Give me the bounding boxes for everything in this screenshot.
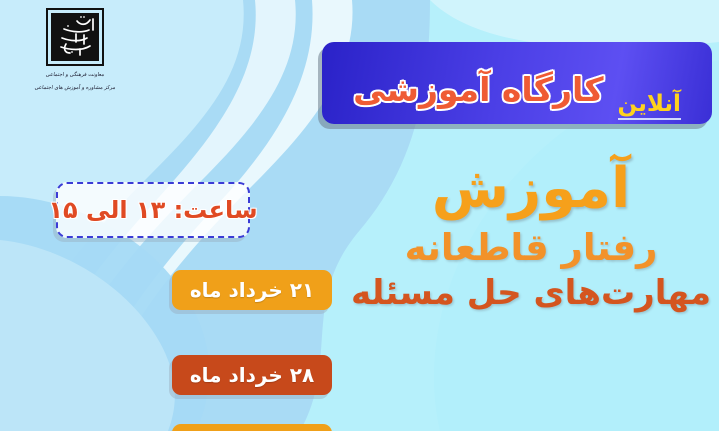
date-badge-label: ۲۱ خرداد ماه (190, 280, 314, 300)
headline-main: آموزش (351, 160, 711, 219)
banner-online-label: آنلاین (618, 93, 681, 120)
workshop-banner: آنلاین کارگاه آموزشی (322, 42, 712, 124)
date-badge: ۲۱ خرداد ماه (172, 270, 332, 310)
date-badge-label: ۲۸ خرداد ماه (190, 365, 314, 385)
headline-topic-1: رفتار قاطعانه (351, 229, 711, 268)
session-time-text: ساعت: ۱۳ الی ۱۵ (48, 198, 257, 222)
date-badge (172, 424, 332, 431)
university-logo: معاونت فرهنگی و اجتماعی مرکز مشاوره و آم… (20, 8, 130, 92)
session-time-box: ساعت: ۱۳ الی ۱۵ (56, 182, 250, 238)
date-badge: ۲۸ خرداد ماه (172, 355, 332, 395)
workshop-poster: معاونت فرهنگی و اجتماعی مرکز مشاوره و آم… (0, 0, 719, 431)
banner-title: کارگاه آموزشی (353, 73, 603, 106)
logo-subtitle-line-2: مرکز مشاوره و آموزش های اجتماعی (19, 84, 130, 92)
headline-stack: آموزش رفتار قاطعانه مهارت‌های حل مسئله (351, 160, 711, 319)
headline-topic-2: مهارت‌های حل مسئله (351, 276, 711, 312)
logo-subtitle-line-1: معاونت فرهنگی و اجتماعی (19, 71, 130, 79)
university-seal-icon (46, 8, 104, 66)
